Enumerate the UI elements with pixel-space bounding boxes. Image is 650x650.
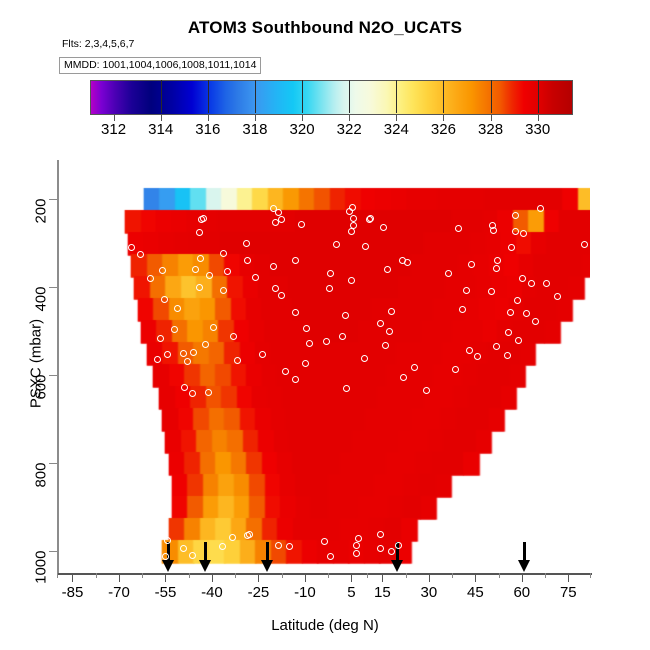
sample-marker [292, 257, 299, 264]
sample-marker [302, 360, 309, 367]
x-axis-minor-tick [406, 573, 407, 578]
x-axis-minor-tick [96, 573, 97, 578]
sample-marker [384, 266, 391, 273]
sample-marker [459, 306, 466, 313]
x-axis-minor-tick [57, 573, 58, 578]
plot-figure: ATOM3 Southbound N2O_UCATS Flts: 2,3,4,5… [0, 0, 650, 650]
plot-area: -85-70-55-40-25-105153045607520040060080… [57, 168, 590, 573]
y-axis-tick [49, 199, 57, 200]
sample-marker [592, 227, 599, 234]
colorbar-separator [208, 80, 209, 113]
colorbar-tick-label: 314 [138, 121, 184, 138]
y-axis-tick-label: 1000 [33, 550, 50, 602]
colorbar-separator [491, 80, 492, 113]
sample-marker [386, 328, 393, 335]
sample-marker [377, 531, 384, 538]
sample-marker [292, 376, 299, 383]
sample-marker [220, 287, 227, 294]
sample-marker [270, 263, 277, 270]
sample-marker [355, 535, 362, 542]
sample-marker [286, 543, 293, 550]
sample-marker [367, 215, 374, 222]
sample-marker [350, 215, 357, 222]
sample-marker [377, 545, 384, 552]
colorbar-tick-label: 322 [326, 121, 372, 138]
x-axis-tick-label: 75 [543, 584, 593, 601]
sample-marker [361, 355, 368, 362]
sample-marker [362, 243, 369, 250]
sample-marker [321, 538, 328, 545]
sample-marker [494, 257, 501, 264]
y-axis-tick-label: 200 [33, 198, 50, 250]
y-axis-tick [49, 287, 57, 288]
sample-marker [505, 329, 512, 336]
sample-marker [180, 350, 187, 357]
sample-marker [581, 241, 588, 248]
sample-marker [514, 297, 521, 304]
sample-marker [543, 280, 550, 287]
x-axis-minor-tick [142, 573, 143, 578]
sample-marker [348, 277, 355, 284]
colorbar-tick-label: 326 [420, 121, 466, 138]
colorbar-tick-label: 318 [232, 121, 278, 138]
sample-marker [353, 550, 360, 557]
colorbar-separator [302, 80, 303, 113]
colorbar-separator [538, 80, 539, 113]
sample-marker [189, 390, 196, 397]
sample-marker [504, 352, 511, 359]
colorbar-tick-label: 330 [515, 121, 561, 138]
sample-marker [507, 309, 514, 316]
sample-marker [278, 216, 285, 223]
flights-annotation: Flts: 2,3,4,5,6,7 [62, 38, 134, 50]
sample-marker [192, 266, 199, 273]
sample-marker [466, 347, 473, 354]
sample-marker [399, 257, 406, 264]
x-axis-minor-tick [328, 573, 329, 578]
x-axis-title: Latitude (deg N) [0, 617, 650, 634]
sample-marker [488, 288, 495, 295]
colorbar-tick-label: 328 [468, 121, 514, 138]
sample-marker [519, 275, 526, 282]
x-axis-tick [429, 573, 430, 582]
sample-marker [210, 324, 217, 331]
sample-marker [327, 553, 334, 560]
sample-marker [282, 368, 289, 375]
sample-marker [326, 285, 333, 292]
sample-marker [184, 358, 191, 365]
profile-marker-arrow [261, 542, 274, 572]
x-axis-tick [522, 573, 523, 582]
sample-marker [306, 340, 313, 347]
colorbar-tick-label: 316 [185, 121, 231, 138]
colorbar-separator [349, 80, 350, 113]
colorbar: 312314316318320322324326328330 [90, 80, 573, 115]
sample-marker [474, 353, 481, 360]
x-axis-tick [72, 573, 73, 582]
x-axis-tick-label: 15 [357, 584, 407, 601]
sample-marker [333, 241, 340, 248]
profile-marker-arrow [518, 542, 531, 572]
sample-marker [554, 293, 561, 300]
x-axis-tick [212, 573, 213, 582]
x-axis-minor-tick [590, 573, 591, 578]
sample-marker [353, 542, 360, 549]
x-axis-minor-tick [499, 573, 500, 578]
sample-marker [537, 205, 544, 212]
sample-marker [161, 296, 168, 303]
sample-marker [323, 338, 330, 345]
sample-marker [229, 534, 236, 541]
page-title: ATOM3 Southbound N2O_UCATS [0, 18, 650, 38]
sample-marker [190, 349, 197, 356]
sample-marker [343, 385, 350, 392]
x-axis-minor-tick [235, 573, 236, 578]
sample-marker [181, 384, 188, 391]
y-axis-tick [49, 375, 57, 376]
sample-marker [528, 280, 535, 287]
sample-marker [346, 208, 353, 215]
sample-marker [298, 221, 305, 228]
x-axis-minor-tick [452, 573, 453, 578]
sample-marker [159, 267, 166, 274]
y-axis-title: PSXC (mbar) [28, 284, 45, 444]
heatmap-canvas [57, 168, 590, 573]
sample-marker [395, 542, 402, 549]
x-axis-minor-tick [545, 573, 546, 578]
sample-marker [463, 287, 470, 294]
profile-marker-arrow [199, 542, 212, 572]
x-axis-tick [165, 573, 166, 582]
sample-marker [455, 225, 462, 232]
x-axis-minor-tick [367, 573, 368, 578]
sample-marker [128, 244, 135, 251]
sample-marker [275, 542, 282, 549]
sample-marker [154, 356, 161, 363]
sample-marker [532, 318, 539, 325]
x-axis-tick-label: -40 [187, 584, 237, 601]
colorbar-separator [255, 80, 256, 113]
colorbar-tick-label: 320 [279, 121, 325, 138]
colorbar-gradient [90, 80, 573, 115]
colorbar-separator [396, 80, 397, 113]
y-axis-tick [49, 463, 57, 464]
x-axis-tick [351, 573, 352, 582]
sample-marker [468, 261, 475, 268]
x-axis-tick [568, 573, 569, 582]
sample-marker [423, 387, 430, 394]
sample-marker [164, 351, 171, 358]
x-axis-tick-label: -25 [233, 584, 283, 601]
x-axis-tick-label: -10 [280, 584, 330, 601]
sample-marker [164, 537, 171, 544]
x-axis-tick [119, 573, 120, 582]
colorbar-tick-label: 312 [91, 121, 137, 138]
sample-marker [157, 335, 164, 342]
sample-marker [196, 284, 203, 291]
x-axis-tick [382, 573, 383, 582]
x-axis-tick-label: 45 [450, 584, 500, 601]
y-axis-tick [49, 551, 57, 552]
sample-marker [493, 265, 500, 272]
sample-marker [377, 320, 384, 327]
mmdd-annotation-box: MMDD: 1001,1004,1006,1008,1011,1014 [59, 57, 261, 74]
x-axis-tick [258, 573, 259, 582]
sample-marker [515, 337, 522, 344]
x-axis-line [57, 573, 592, 575]
sample-marker [523, 310, 530, 317]
x-axis-tick-label: -55 [140, 584, 190, 601]
colorbar-tick-label: 324 [373, 121, 419, 138]
sample-marker [252, 274, 259, 281]
sample-marker [303, 325, 310, 332]
x-axis-tick [305, 573, 306, 582]
y-axis-tick-label: 800 [33, 462, 50, 514]
sample-marker [493, 343, 500, 350]
x-axis-tick-label: 60 [497, 584, 547, 601]
x-axis-tick-label: -85 [48, 584, 98, 601]
sample-marker [219, 543, 226, 550]
sample-marker [388, 308, 395, 315]
x-axis-tick-label: -70 [94, 584, 144, 601]
x-axis-minor-tick [189, 573, 190, 578]
x-axis-minor-tick [282, 573, 283, 578]
heatmap-canvas-holder [57, 168, 590, 573]
x-axis-tick-label: 30 [404, 584, 454, 601]
x-axis-tick [475, 573, 476, 582]
colorbar-separator [443, 80, 444, 113]
sample-marker [388, 548, 395, 555]
colorbar-separator [161, 80, 162, 113]
